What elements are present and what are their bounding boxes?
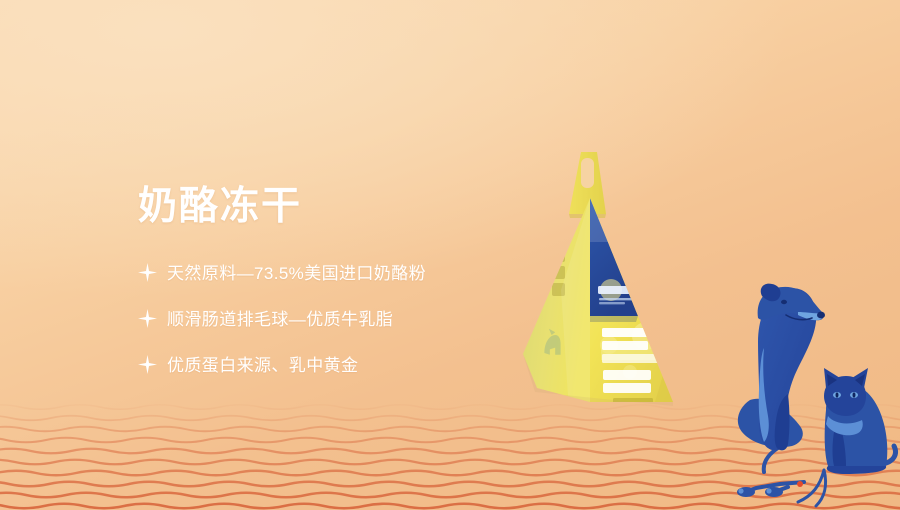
sparkle-icon [138,309,157,328]
product-banner: 奶酪冻干 天然原料—73.5%美国进口奶酪粉 顺滑肠道排毛球—优质牛乳脂 [0,0,900,510]
package-front-face [590,198,673,403]
feature-text: 天然原料—73.5%美国进口奶酪粉 [167,259,426,284]
list-item: 天然原料—73.5%美国进口奶酪粉 [138,259,518,285]
feature-text: 优质蛋白来源、乳中黄金 [167,351,358,376]
marketing-copy-block: 奶酪冻干 天然原料—73.5%美国进口奶酪粉 顺滑肠道排毛球—优质牛乳脂 [138,186,518,377]
product-name-en [602,328,660,363]
sparkle-icon [138,355,157,374]
list-item: 顺滑肠道排毛球—优质牛乳脂 [138,305,518,331]
page-title: 奶酪冻干 [138,186,518,229]
package-side-face [523,198,590,402]
sparkle-icon [138,263,157,282]
product-package-image [505,140,685,410]
feature-text: 顺滑肠道排毛球—优质牛乳脂 [167,305,393,330]
pets-illustration [728,282,900,510]
list-item: 优质蛋白来源、乳中黄金 [138,351,518,377]
dog-illustration [737,284,826,506]
dog-paws [737,481,804,497]
cat-illustration [824,368,896,474]
feature-list: 天然原料—73.5%美国进口奶酪粉 顺滑肠道排毛球—优质牛乳脂 优质蛋白来源、乳… [138,259,518,377]
